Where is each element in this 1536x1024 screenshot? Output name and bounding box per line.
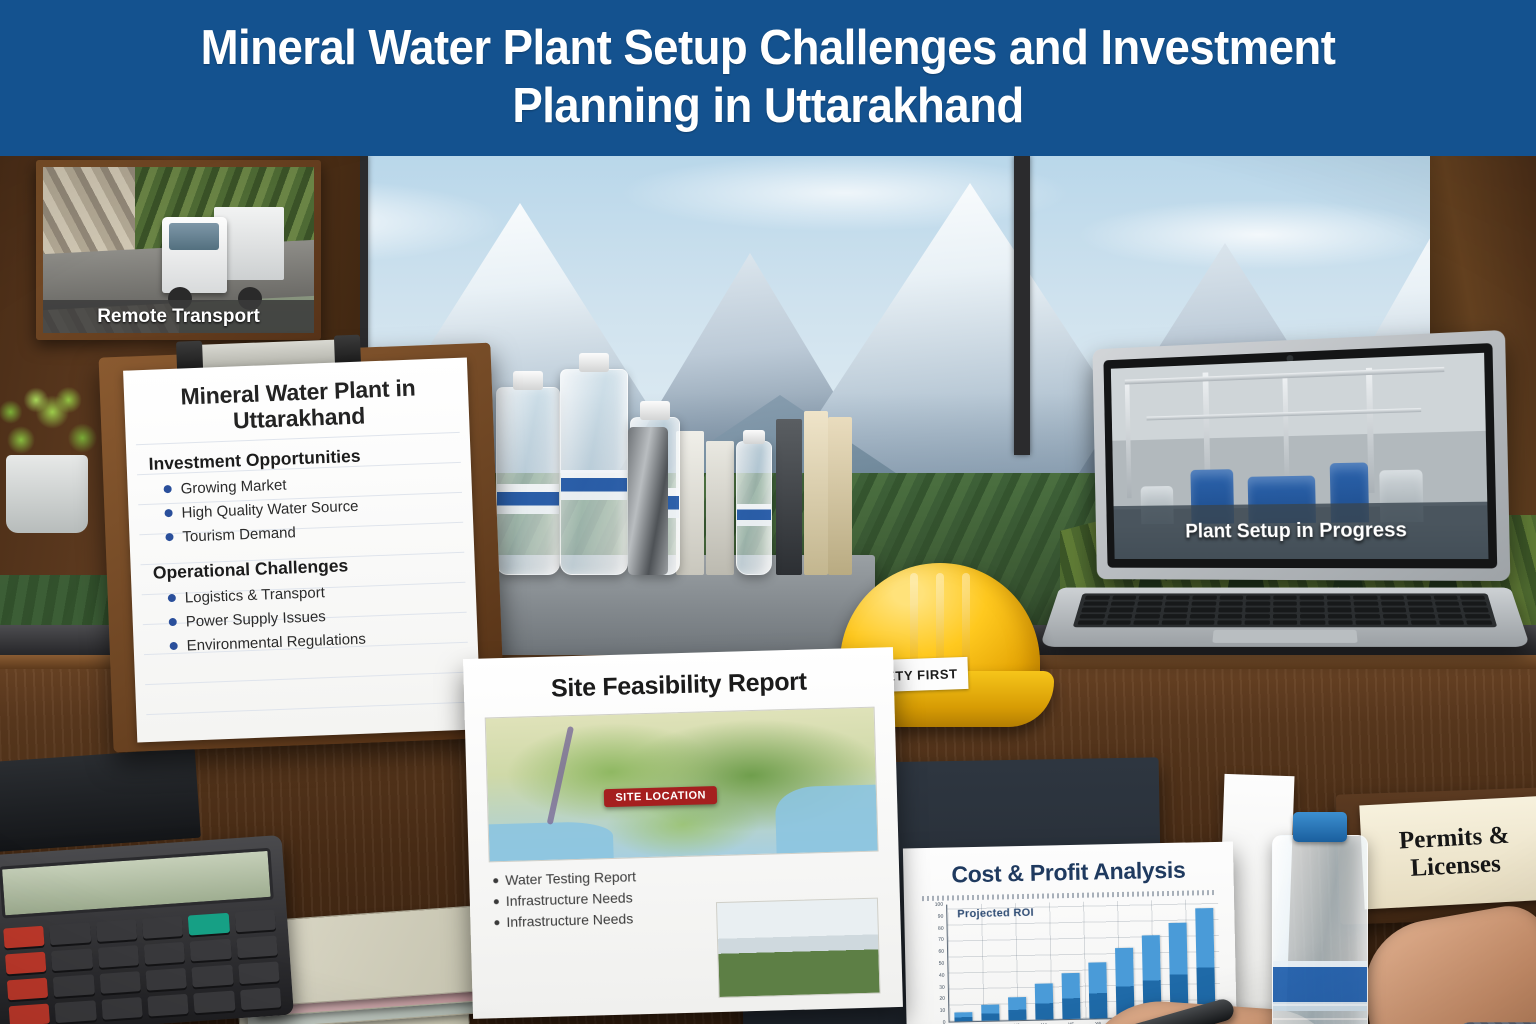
laptop-screen-caption-text: Plant Setup in Progress	[1185, 519, 1407, 543]
bullet-dot-icon	[494, 899, 499, 904]
bullet-dot-icon	[170, 642, 178, 650]
chart-y-tick: 90	[938, 913, 944, 919]
bottle-label	[737, 504, 771, 526]
bullet-dot-icon	[165, 533, 173, 541]
bullet-dot-icon	[168, 594, 176, 602]
laptop-lid: Plant Setup in Progress	[1092, 330, 1510, 581]
laptop-bezel: Plant Setup in Progress	[1103, 343, 1497, 568]
chart-y-tick: 100	[935, 902, 943, 908]
bottle-cap	[743, 430, 765, 444]
cost-analysis-title: Cost & Profit Analysis	[919, 856, 1218, 889]
cost-profit-analysis-document[interactable]: Cost & Profit Analysis 10090807060504030…	[903, 842, 1239, 1024]
product-carton	[776, 419, 802, 575]
bullet-dot-icon	[164, 485, 172, 493]
bullet-dot-icon	[169, 618, 177, 626]
bottle-label	[561, 470, 627, 500]
report-list-item-label: Infrastructure Needs	[506, 910, 633, 930]
clipboard-item: Power Supply Issues	[168, 602, 460, 630]
chart-bar	[1195, 908, 1215, 1016]
binder-cover-label-text: Permits & Licenses	[1361, 820, 1536, 886]
clipboard-item-label: Environmental Regulations	[186, 630, 366, 654]
chart-y-tick: 20	[939, 996, 945, 1002]
chart-bar	[1088, 962, 1107, 1019]
scene-photo: Remote Transport Mineral Wat	[0, 155, 1536, 1024]
clipboard-item-label: Tourism Demand	[182, 524, 296, 545]
page-root: Mineral Water Plant Setup Challenges and…	[0, 0, 1536, 1024]
bottle-cap	[640, 401, 670, 420]
bottle-label	[497, 484, 559, 514]
site-feasibility-report[interactable]: Site Feasibility Report SITE LOCATION Wa…	[463, 647, 903, 1019]
report-map: SITE LOCATION	[485, 707, 879, 863]
bottle-cap	[579, 353, 609, 372]
report-title: Site Feasibility Report	[484, 666, 875, 706]
chart-bar	[1008, 997, 1026, 1021]
chart-y-tick: 80	[938, 925, 944, 931]
clipboard: Mineral Water Plant in Uttarakhand Inves…	[99, 343, 506, 753]
chart-bar	[1062, 973, 1081, 1019]
laptop-screen[interactable]: Plant Setup in Progress	[1111, 353, 1489, 559]
potted-plant-pot	[6, 455, 88, 533]
clipboard-item-label: Logistics & Transport	[185, 584, 326, 606]
laptop-keyboard[interactable]	[1073, 593, 1498, 627]
chart-y-tick: 60	[938, 949, 944, 955]
steel-flask	[628, 427, 668, 575]
chart-y-tick: 0	[943, 1020, 946, 1024]
framed-photo-caption: Remote Transport	[43, 300, 314, 333]
report-list-item-label: Infrastructure Needs	[506, 889, 633, 909]
product-carton	[706, 441, 734, 575]
framed-photo-image: Remote Transport	[43, 167, 314, 333]
product-carton	[804, 411, 828, 575]
chart-y-tick: 30	[939, 984, 945, 990]
held-water-bottle	[1272, 835, 1368, 1024]
clipboard-item-label: Power Supply Issues	[185, 608, 326, 630]
clipboard-item: Logistics & Transport	[168, 578, 460, 606]
framed-photo-caption-text: Remote Transport	[97, 306, 260, 328]
chart-y-tick: 40	[939, 972, 945, 978]
chart-y-tick: 10	[940, 1008, 946, 1014]
laptop-trackpad[interactable]	[1212, 630, 1357, 643]
bottle-ribs	[1273, 1004, 1367, 1024]
water-bottle	[560, 369, 628, 575]
map-site-location-pin[interactable]: SITE LOCATION	[604, 786, 717, 807]
product-carton	[828, 417, 852, 575]
clipboard-title: Mineral Water Plant in Uttarakhand	[144, 374, 454, 437]
chart-y-axis: 1009080706050403020100	[920, 905, 948, 1024]
report-inset-photo	[716, 898, 881, 998]
clipboard-item: Tourism Demand	[165, 518, 457, 546]
chart-bar	[1035, 983, 1054, 1020]
clipboard-section-heading-investment: Investment Opportunities	[148, 442, 455, 475]
water-bottle	[736, 441, 772, 575]
binder-cover-label: Permits & Licenses	[1359, 796, 1536, 910]
laptop-screen-caption: Plant Setup in Progress	[1114, 501, 1489, 559]
laptop-base	[1040, 588, 1531, 647]
clipboard-item: Environmental Regulations	[169, 626, 461, 654]
page-title: Mineral Water Plant Setup Challenges and…	[108, 20, 1429, 136]
laptop[interactable]: Plant Setup in Progress	[1012, 340, 1512, 770]
chart-bar	[981, 1004, 999, 1021]
framed-photo-remote-transport: Remote Transport	[36, 160, 321, 340]
bullet-dot-icon	[494, 920, 499, 925]
chart-bar	[954, 1012, 972, 1022]
bottle-cap	[513, 371, 543, 390]
calculator[interactable]	[0, 835, 294, 1024]
clipboard-item-label: Growing Market	[180, 476, 286, 497]
clipboard-paper: Mineral Water Plant in Uttarakhand Inves…	[123, 358, 481, 743]
calculator-keypad[interactable]	[3, 910, 281, 1024]
notebook-stack	[0, 748, 201, 852]
bullet-dot-icon	[164, 509, 172, 517]
bottle-cap	[1293, 812, 1347, 842]
water-bottle	[496, 387, 560, 575]
report-list-item-label: Water Testing Report	[505, 868, 636, 888]
calculator-display	[0, 848, 274, 919]
chart-y-tick: 50	[939, 961, 945, 967]
header-banner: Mineral Water Plant Setup Challenges and…	[0, 0, 1536, 156]
product-carton	[676, 431, 704, 575]
clipboard-section-heading-challenges: Operational Challenges	[152, 551, 459, 584]
bullet-dot-icon	[493, 878, 498, 883]
chart-y-tick: 70	[938, 937, 944, 943]
